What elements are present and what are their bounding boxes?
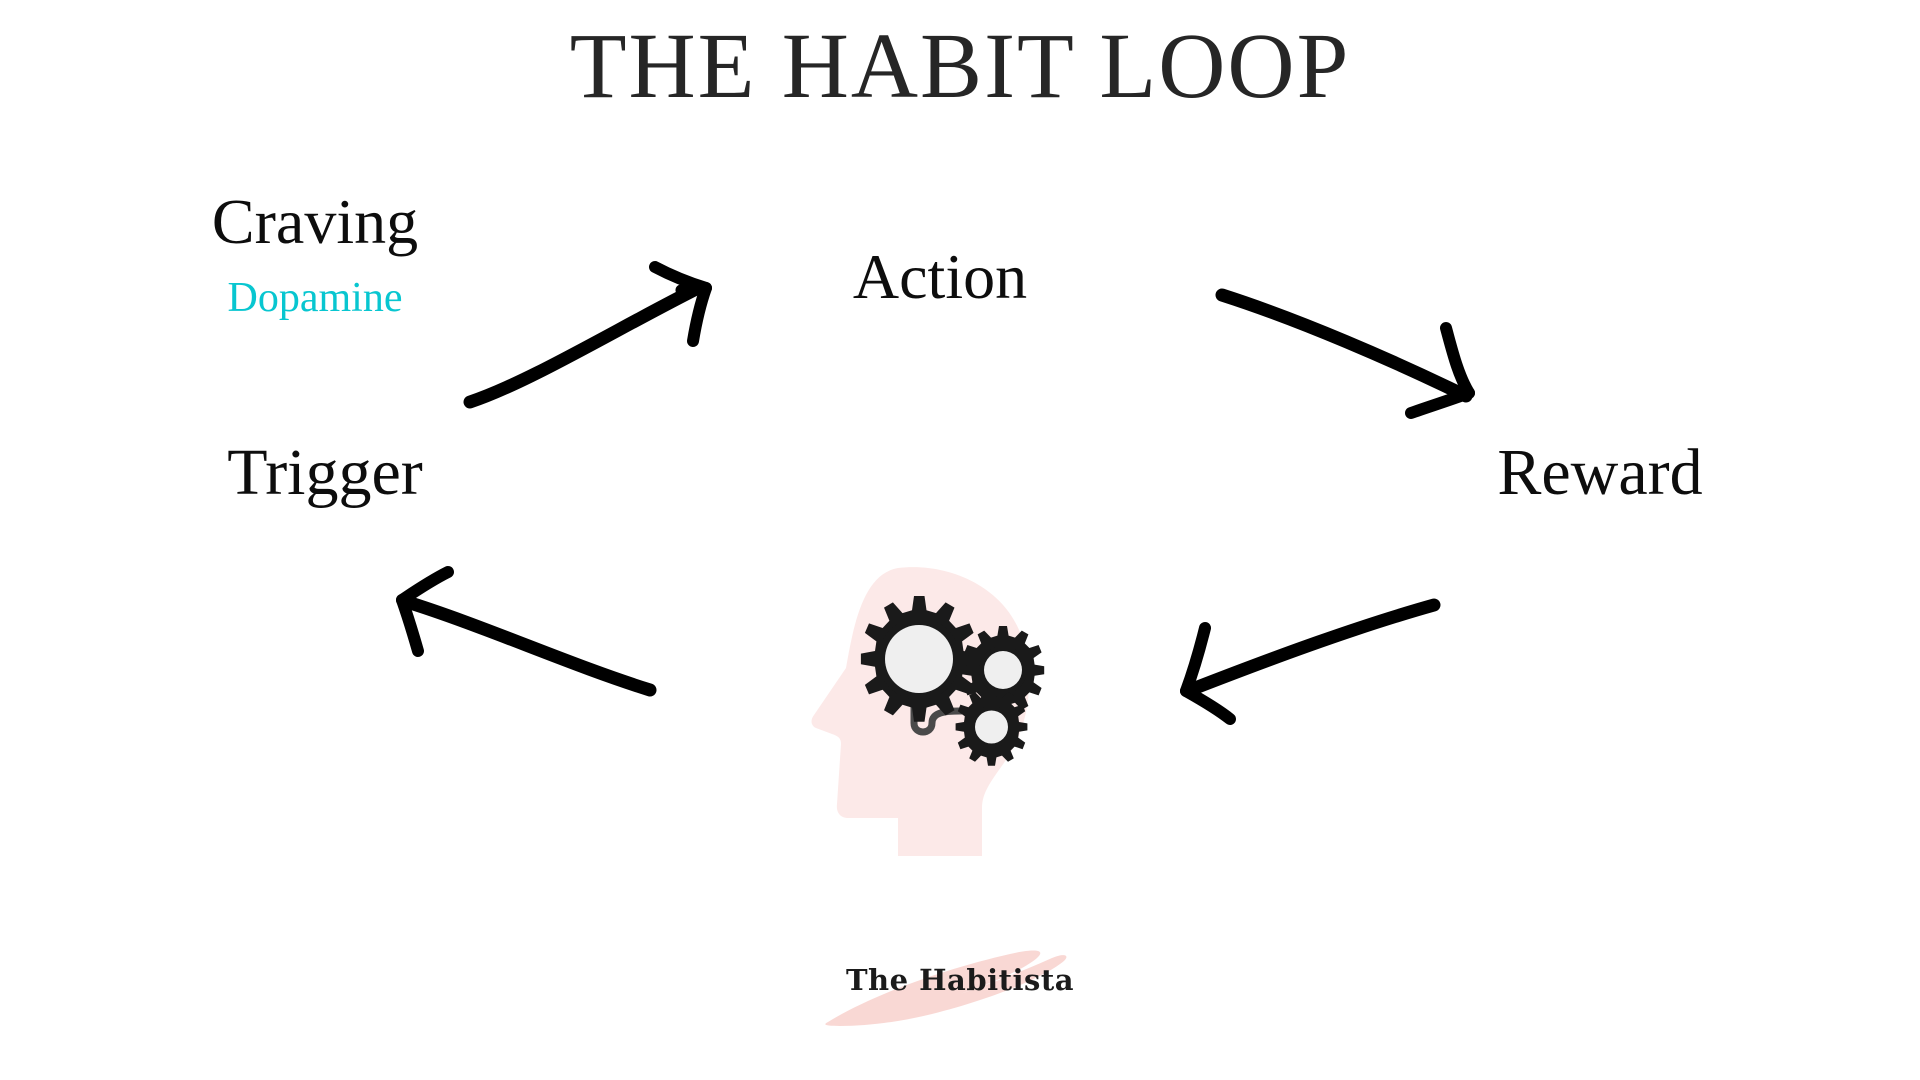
brand-logo: The Habitista	[810, 930, 1110, 1040]
loop-arrows-layer	[0, 0, 1920, 1080]
node-label-craving: Craving	[212, 190, 418, 254]
node-label-reward: Reward	[1497, 440, 1702, 506]
arrow-reward-to-center	[1186, 605, 1434, 719]
slide-canvas: THE HABIT LOOP	[0, 0, 1920, 1080]
arrow-trigger-to-action	[470, 267, 706, 402]
node-sublabel-dopamine: Dopamine	[228, 277, 403, 319]
node-label-trigger: Trigger	[227, 440, 423, 506]
arrow-action-to-reward	[1222, 295, 1469, 413]
node-label-action: Action	[853, 245, 1027, 309]
brand-logo-text: The Habitista	[810, 966, 1110, 995]
arrow-center-to-trigger	[402, 572, 650, 690]
head-with-gears-icon	[810, 560, 1070, 860]
page-title: THE HABIT LOOP	[0, 18, 1920, 116]
